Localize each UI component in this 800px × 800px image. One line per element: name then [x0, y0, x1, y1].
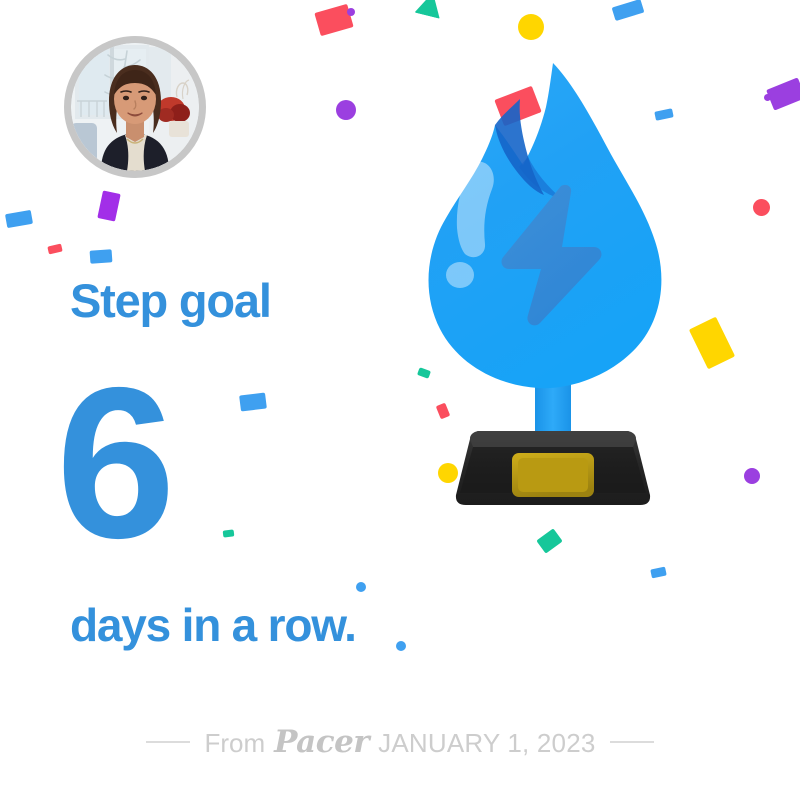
- confetti-dot-1: [347, 8, 355, 16]
- footer: From Pacer JANUARY 1, 2023: [0, 722, 800, 762]
- confetti-rect-6: [612, 0, 645, 21]
- confetti-dot-19: [744, 468, 760, 484]
- confetti-rect-12: [5, 210, 33, 228]
- footer-rule-left: [146, 741, 190, 743]
- streak-count: 6: [56, 355, 170, 570]
- footer-from-label: From: [204, 728, 265, 759]
- footer-attribution: From Pacer JANUARY 1, 2023: [204, 724, 595, 760]
- confetti-dot-4: [518, 14, 544, 40]
- confetti-dot-22: [396, 641, 406, 651]
- confetti-dot-25: [764, 94, 771, 101]
- footer-date: JANUARY 1, 2023: [378, 728, 595, 759]
- avatar-photo: [71, 43, 199, 171]
- footer-rule-right: [610, 741, 654, 743]
- confetti-dot-2: [336, 100, 356, 120]
- pacer-brand-logo: Pacer: [274, 724, 369, 760]
- confetti-tri-3: [414, 0, 445, 19]
- confetti-dot-9: [753, 199, 770, 216]
- confetti-rect-23: [436, 403, 451, 420]
- streak-share-card: Step goal 6 days in a row. From Pacer JA…: [0, 0, 800, 800]
- confetti-dot-18: [438, 463, 458, 483]
- confetti-rect-7: [766, 77, 800, 110]
- confetti-rect-5: [494, 86, 541, 126]
- streak-unit-label: days in a row.: [70, 602, 356, 648]
- confetti-dot-17: [356, 582, 366, 592]
- confetti-rect-14: [90, 249, 113, 264]
- avatar: [64, 36, 206, 178]
- confetti-rect-20: [536, 528, 562, 553]
- confetti-rect-0: [314, 4, 353, 36]
- confetti-rect-11: [689, 317, 735, 370]
- confetti-rect-21: [650, 567, 667, 579]
- confetti-rect-13: [47, 244, 62, 255]
- confetti-rect-15: [239, 392, 267, 411]
- confetti-rect-8: [654, 108, 673, 121]
- confetti-rect-24: [417, 367, 431, 379]
- flame-trophy-badge: [378, 55, 728, 515]
- step-goal-label: Step goal: [70, 277, 271, 324]
- confetti-rect-16: [223, 529, 235, 537]
- confetti-rect-10: [97, 190, 120, 221]
